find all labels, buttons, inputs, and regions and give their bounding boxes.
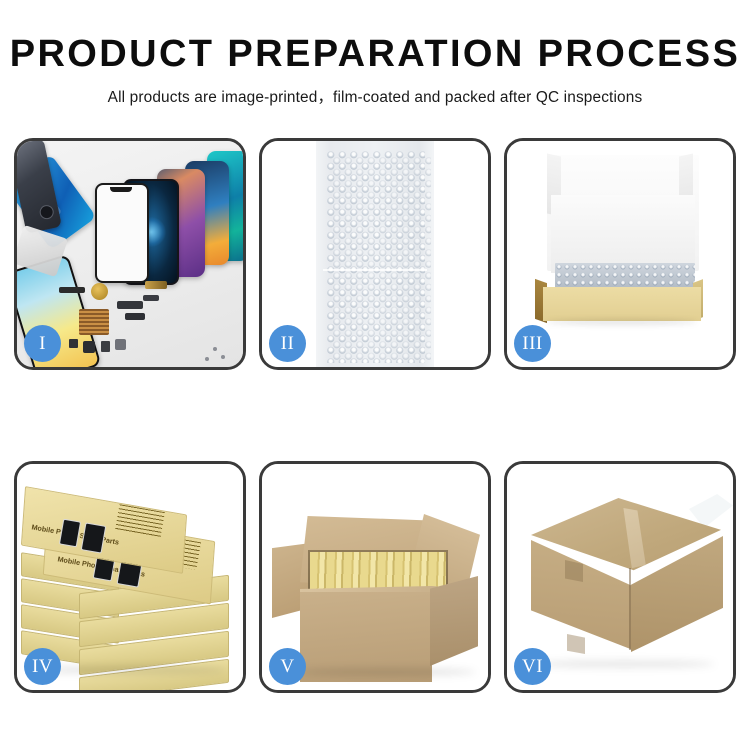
page-subtitle: All products are image-printed，film-coat… bbox=[0, 85, 750, 107]
flex-cable-2 bbox=[125, 313, 145, 320]
step-badge-6: VI bbox=[514, 648, 551, 685]
screen-glass-panel bbox=[95, 183, 149, 283]
screw-2 bbox=[221, 355, 225, 359]
foam-sheet bbox=[551, 195, 695, 273]
screw-3 bbox=[205, 357, 209, 361]
process-step-panel-2[interactable]: II bbox=[259, 138, 491, 370]
small-component-2 bbox=[83, 341, 95, 353]
page-title: PRODUCT PREPARATION PROCESS bbox=[0, 34, 750, 74]
step-badge-3: III bbox=[514, 325, 551, 362]
carton-corner-seam bbox=[629, 568, 631, 650]
wrap-seam bbox=[323, 269, 427, 271]
flex-cable-1 bbox=[117, 301, 143, 309]
bubble-wrap-strip bbox=[316, 141, 434, 367]
box-front-panel bbox=[543, 287, 701, 321]
flex-cable-3 bbox=[145, 281, 167, 289]
step-badge-5: V bbox=[269, 648, 306, 685]
step-badge-1: I bbox=[24, 325, 61, 362]
step-badge-2: II bbox=[269, 325, 306, 362]
sealed-carton-shadow bbox=[535, 660, 715, 668]
step-badge-4: IV bbox=[24, 648, 61, 685]
box-shadow bbox=[547, 319, 697, 325]
small-component-3 bbox=[101, 341, 110, 352]
small-component-4 bbox=[115, 339, 126, 350]
process-step-panel-4[interactable]: Mobile Phone Spare Parts Mobile Phone Sp… bbox=[14, 461, 246, 693]
carton-tab-lower bbox=[567, 634, 585, 654]
small-component-1 bbox=[69, 339, 78, 348]
page-header: PRODUCT PREPARATION PROCESS All products… bbox=[0, 0, 750, 107]
coil-part bbox=[91, 283, 108, 300]
stack-shadow bbox=[35, 666, 225, 674]
process-step-panel-1[interactable]: I bbox=[14, 138, 246, 370]
screw-1 bbox=[213, 347, 217, 351]
bubble-texture-back bbox=[331, 155, 431, 363]
process-step-panel-5[interactable]: V bbox=[259, 461, 491, 693]
process-step-panel-6[interactable]: VI bbox=[504, 461, 736, 693]
carton-shadow bbox=[296, 668, 476, 676]
carton-side-panel bbox=[430, 576, 478, 666]
flex-cable-4 bbox=[143, 295, 159, 301]
process-step-grid: I II III bbox=[14, 138, 736, 693]
copper-grid-part bbox=[79, 309, 109, 335]
strip-part bbox=[59, 287, 85, 293]
process-step-panel-3[interactable]: III bbox=[504, 138, 736, 370]
